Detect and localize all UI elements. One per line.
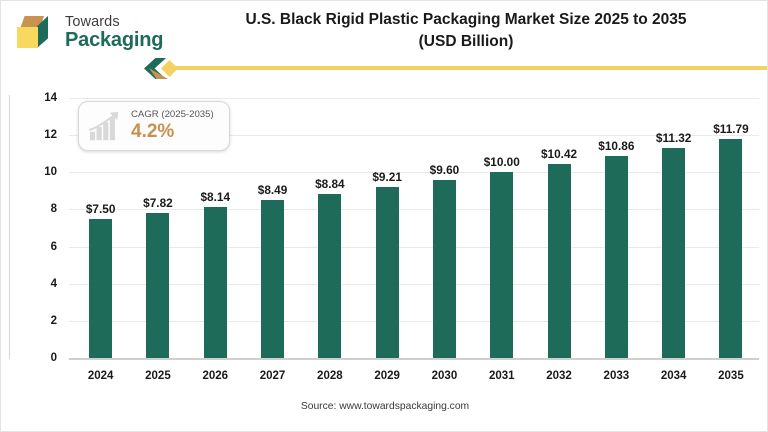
divider-line <box>172 66 768 70</box>
y-axis-tick-label: 12 <box>9 129 57 141</box>
y-axis-tick-label: 8 <box>9 203 57 215</box>
growth-chart-icon <box>87 109 125 143</box>
gridline <box>69 321 759 322</box>
gridline <box>69 98 759 99</box>
x-axis-tick-label: 2035 <box>696 370 766 382</box>
bar[interactable] <box>605 156 628 358</box>
y-axis-tick-label: 2 <box>9 315 57 327</box>
package-box-icon <box>15 11 57 55</box>
bar[interactable] <box>548 164 571 358</box>
bar[interactable] <box>490 172 513 358</box>
title-divider <box>144 57 768 79</box>
bar[interactable] <box>719 139 742 358</box>
page-title: U.S. Black Rigid Plastic Packaging Marke… <box>176 9 756 53</box>
bar[interactable] <box>433 180 456 358</box>
y-axis-tick-label: 14 <box>9 92 57 104</box>
gridline <box>69 284 759 285</box>
y-axis-tick-label: 6 <box>9 241 57 253</box>
bar[interactable] <box>376 187 399 358</box>
brand-name-bottom: Packaging <box>65 30 163 51</box>
bar[interactable] <box>662 148 685 358</box>
bar[interactable] <box>89 219 112 358</box>
brand-logo-text: Towards Packaging <box>65 15 163 51</box>
bar[interactable] <box>261 200 284 358</box>
bar[interactable] <box>204 207 227 358</box>
y-axis-tick-label: 0 <box>9 352 57 364</box>
source-caption: Source: www.towardspackaging.com <box>1 401 768 412</box>
gridline <box>69 247 759 248</box>
cagr-value: 4.2% <box>131 122 214 142</box>
chart-page: Towards Packaging U.S. Black Rigid Plast… <box>0 0 768 432</box>
page-header: Towards Packaging U.S. Black Rigid Plast… <box>1 1 768 81</box>
cagr-badge: CAGR (2025-2035) 4.2% <box>78 101 230 151</box>
brand-logo: Towards Packaging <box>15 11 163 55</box>
y-axis-tick-label: 10 <box>9 166 57 178</box>
box-front-face <box>17 27 38 48</box>
cagr-label: CAGR (2025-2035) <box>131 110 214 120</box>
x-axis-line <box>69 358 759 360</box>
bar-value-label: $11.79 <box>696 122 766 136</box>
bar[interactable] <box>146 213 169 358</box>
cagr-text-block: CAGR (2025-2035) 4.2% <box>131 110 214 142</box>
bar[interactable] <box>318 194 341 358</box>
brand-name-top: Towards <box>65 15 163 30</box>
page-title-line1: U.S. Black Rigid Plastic Packaging Marke… <box>245 11 686 28</box>
y-axis-tick-label: 4 <box>9 278 57 290</box>
page-title-line2: (USD Billion) <box>419 33 514 50</box>
chevron-diamond-shape <box>161 60 178 77</box>
